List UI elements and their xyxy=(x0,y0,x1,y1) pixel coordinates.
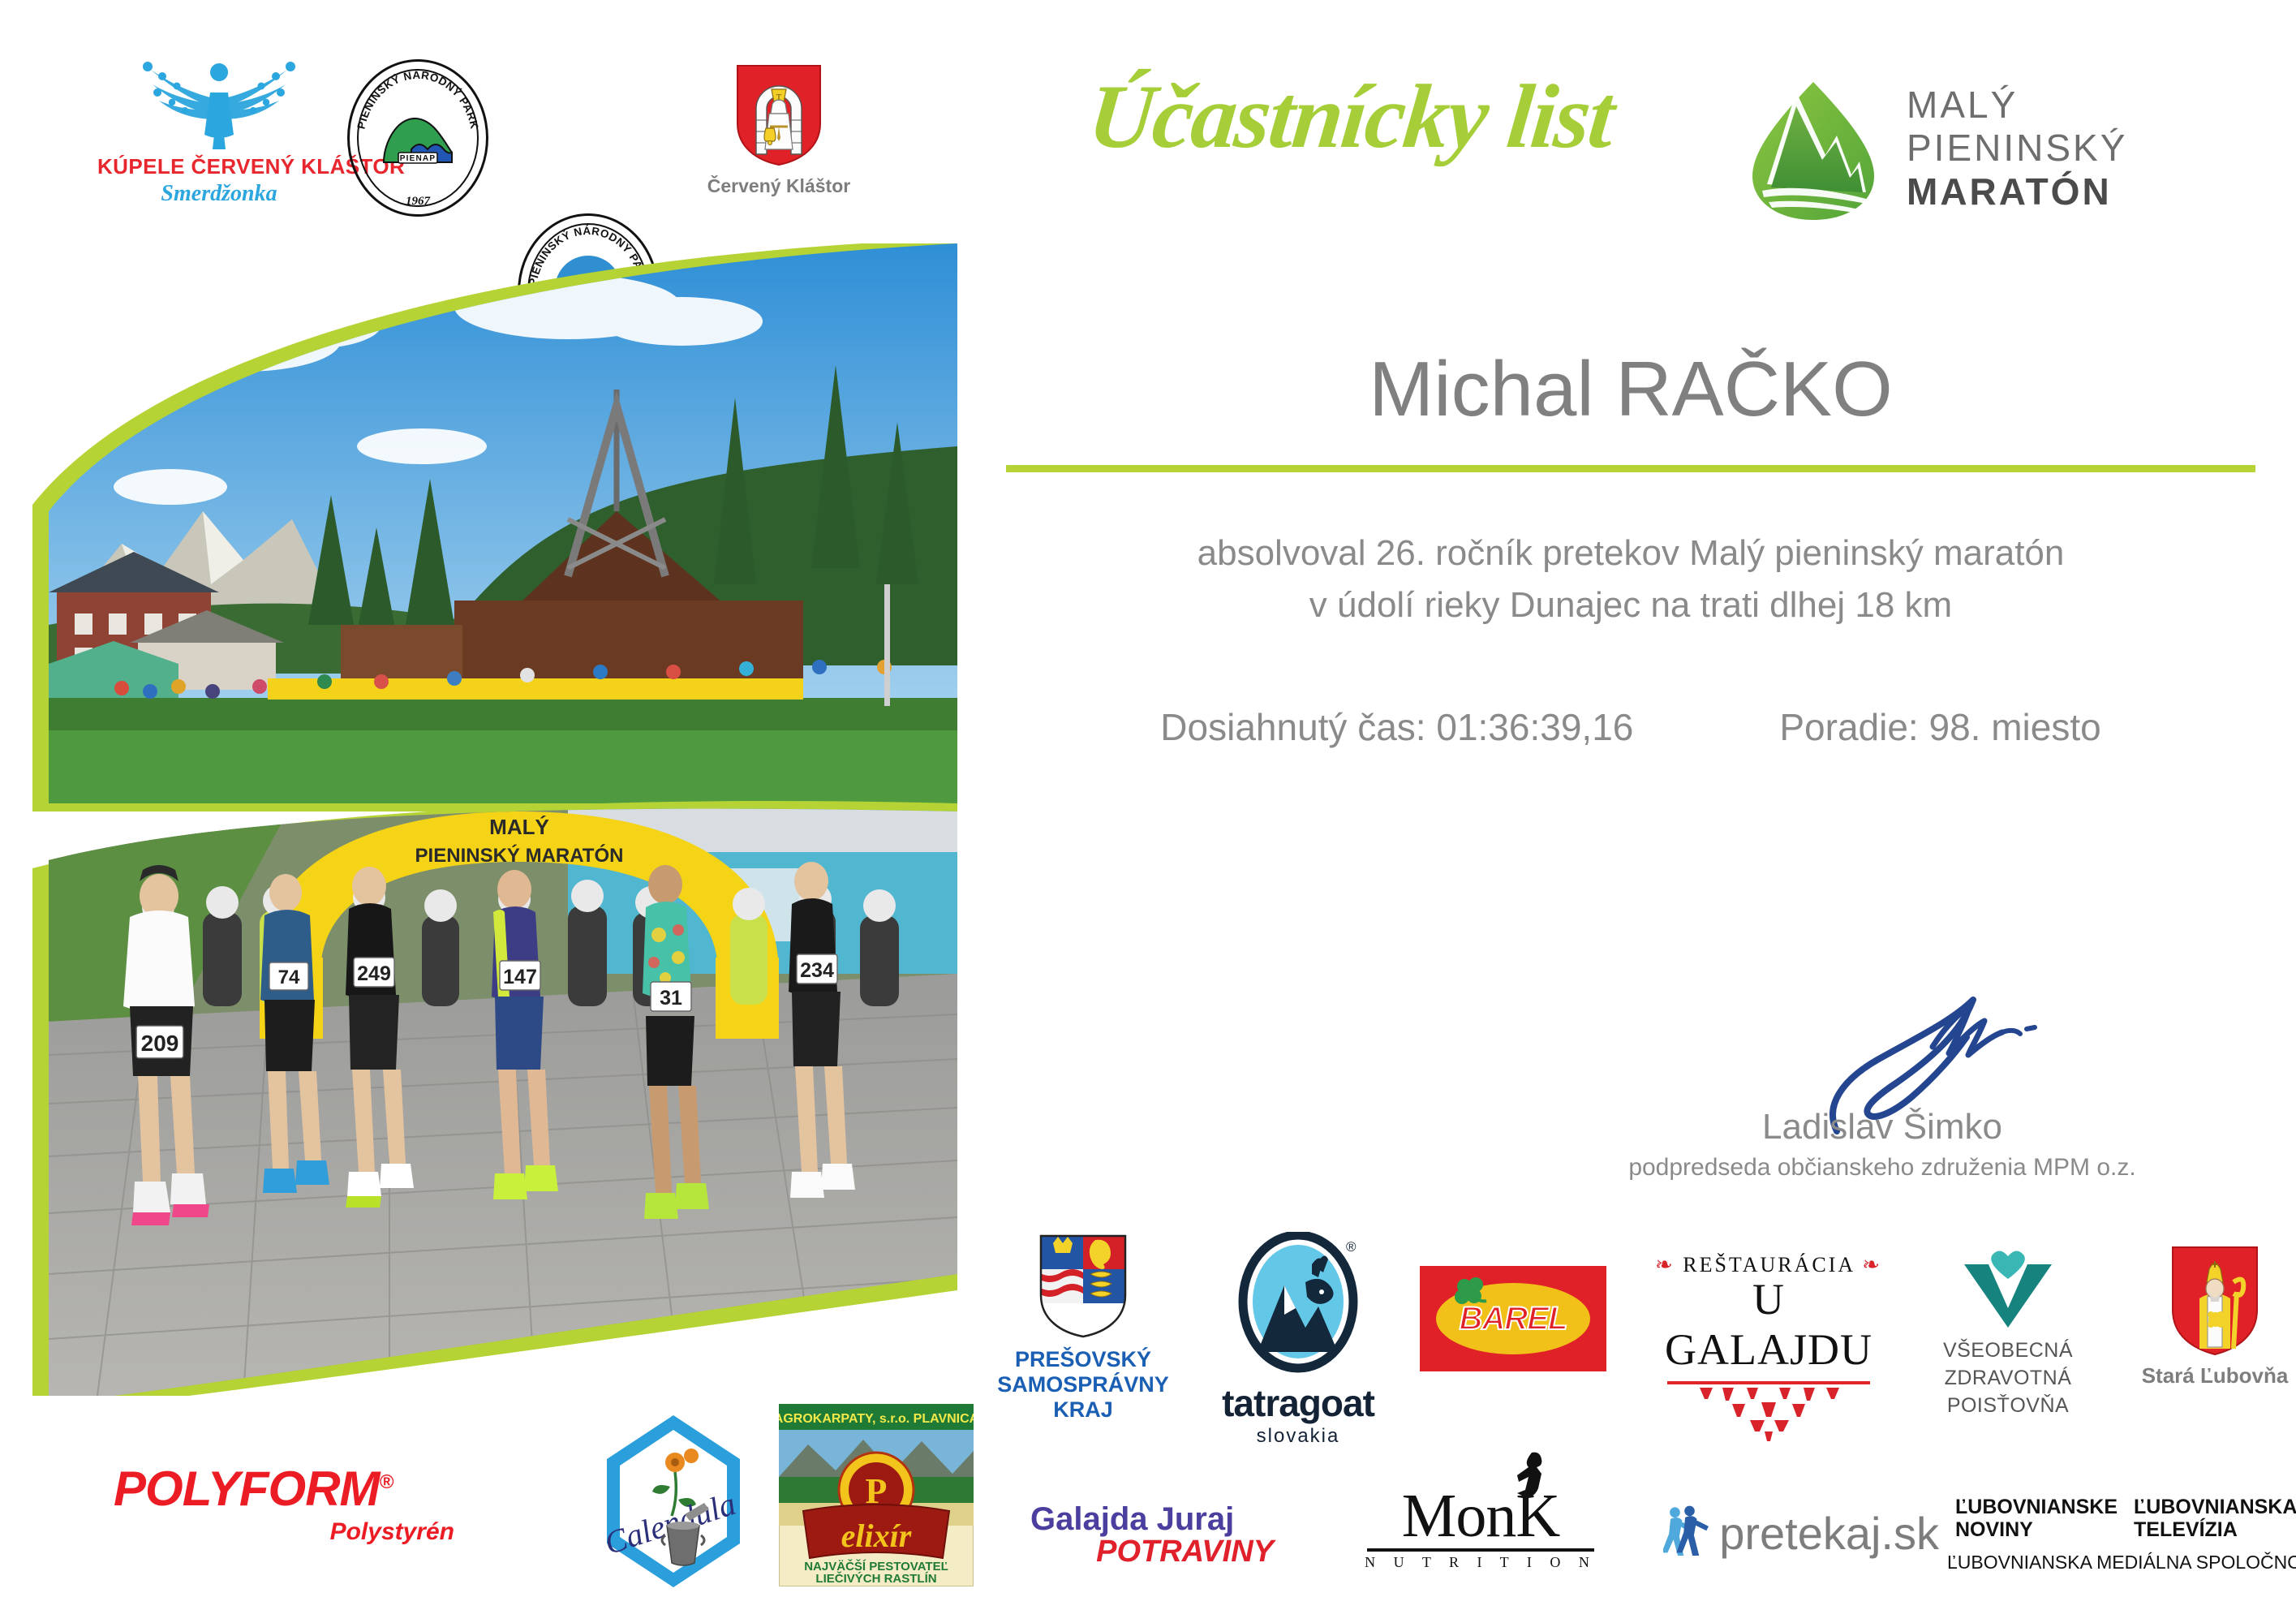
svg-text:MALÝ: MALÝ xyxy=(489,815,549,839)
mpm-wordmark: MALÝ PIENINSKÝ MARATÓN xyxy=(1907,84,2127,213)
sponsor-logo-presovsky-samospravny-kraj: PREŠOVSKÝ SAMOSPRÁVNY KRAJ xyxy=(990,1233,1176,1423)
registered-trademark-icon: ® xyxy=(380,1471,393,1493)
polyform-name: POLYFORM® xyxy=(114,1461,454,1517)
lubovnianska-televizia-name: ĽUBOVNIANSKA TELEVÍZIA xyxy=(2134,1496,2296,1541)
sponsor-logo-polyform: POLYFORM® Polystyrén xyxy=(114,1461,454,1546)
mpm-leaf-mountain-logo-icon xyxy=(1744,77,1882,223)
svg-text:234: 234 xyxy=(800,959,834,982)
monk-subtitle: N U T R I T I O N xyxy=(1347,1554,1615,1571)
galajda-name: Galajda Juraj xyxy=(1030,1501,1274,1538)
sponsor-logo-tatragoat: ® tatragoat slovakia xyxy=(1209,1232,1387,1448)
vszp-name: VŠEOBECNÁ ZDRAVOTNÁ POISŤOVŇA xyxy=(1915,1337,2101,1419)
svg-text:209: 209 xyxy=(141,1031,179,1056)
psk-name: PREŠOVSKÝ SAMOSPRÁVNY KRAJ xyxy=(990,1347,1176,1423)
svg-text:147: 147 xyxy=(503,966,537,988)
clover-icon xyxy=(1451,1275,1491,1315)
photo-montage: MALÝ PIENINSKÝ MARATÓN xyxy=(0,243,957,1396)
kupele-name-line1: KÚPELE ČERVENÝ KLÁŠTOR xyxy=(97,154,341,179)
pienap-year: 1967 xyxy=(406,195,430,209)
sponsor-logo-vszp: VŠEOBECNÁ ZDRAVOTNÁ POISŤOVŇA xyxy=(1915,1250,2101,1419)
sponsor-logo-lubovnianska-medialna-spolocnost: ĽUBOVNIANSKE NOVINY ĽUBOVNIANSKA TELEVÍZ… xyxy=(1947,1495,2288,1573)
partner-logo-cerveny-klastor: T Červený Kláštor xyxy=(698,63,860,197)
sponsor-strip-media: Galajda Juraj POTRAVINY MonK N U T R I T… xyxy=(982,1477,2280,1623)
cerveny-klastor-caption: Červený Kláštor xyxy=(698,175,860,197)
mpm-brand-logo: MALÝ PIENINSKÝ MARATÓN xyxy=(1744,77,2247,223)
achievement-text: absolvoval 26. ročník pretekov Malý pien… xyxy=(998,527,2264,631)
sponsor-strip-left: POLYFORM® Polystyrén Calendula xyxy=(97,1380,957,1582)
vszp-line-3: POISŤOVŇA xyxy=(1915,1393,2101,1420)
sponsor-logo-restauracia-u-galajdu: ❧ REŠTAURÁCIA ❧ U GALAJDU xyxy=(1647,1253,1890,1445)
vszp-heart-chevron-icon xyxy=(1959,1250,2057,1328)
lubovnianske-noviny-name: ĽUBOVNIANSKE NOVINY xyxy=(1955,1496,2118,1541)
monk-silhouette-icon xyxy=(1506,1451,1554,1498)
tatragoat-chamois-mountain-icon: ® xyxy=(1237,1232,1359,1378)
tatragoat-subtitle: slovakia xyxy=(1209,1425,1387,1448)
elixir-name: elixír xyxy=(841,1518,912,1554)
lms-company-name: ĽUBOVNIANSKA MEDIÁLNA SPOLOČNOSŤ, s.r.o. xyxy=(1947,1552,2288,1573)
partner-logo-kupele-cerveny-klastor: KÚPELE ČERVENÝ KLÁŠTOR Smerdžonka xyxy=(97,57,341,207)
vszp-line-1: VŠEOBECNÁ xyxy=(1915,1337,2101,1365)
signature-block: Ladislav Šimko podpredseda občianskeho z… xyxy=(1517,990,2247,1182)
elixir-foot2: LIEČIVÝCH RASTLÍN xyxy=(815,1571,936,1586)
angel-water-wings-icon xyxy=(97,57,341,154)
signer-role: podpredseda občianskeho združenia MPM o.… xyxy=(1517,1154,2247,1182)
certificate-title: Účastnícky list xyxy=(993,71,1709,162)
participant-name: Michal RAČKO xyxy=(998,349,2264,431)
barel-oval: BAREL xyxy=(1436,1283,1590,1354)
name-underline-rule xyxy=(1006,465,2255,472)
mpm-word-pieninsky: PIENINSKÝ xyxy=(1907,127,2127,170)
sponsor-logo-stara-lubovna: Stará Ľubovňa xyxy=(2134,1245,2296,1388)
psk-line-1: PREŠOVSKÝ xyxy=(990,1347,1176,1372)
svg-text:31: 31 xyxy=(660,987,682,1010)
svg-text:249: 249 xyxy=(357,962,391,985)
vszp-line-2: ZDRAVOTNÁ xyxy=(1915,1365,2101,1393)
achievement-line-1: absolvoval 26. ročník pretekov Malý pien… xyxy=(998,527,2264,579)
sponsor-logo-agrokarpaty-elixir: AGROKARPATY, s.r.o. PLAVNICA P elixír NA… xyxy=(779,1404,974,1586)
psk-coat-of-arms-icon xyxy=(1038,1233,1128,1339)
stara-lubovna-coat-of-arms-icon xyxy=(2170,1245,2259,1357)
certificate-body: Michal RAČKO absolvoval 26. ročník prete… xyxy=(998,349,2264,749)
mpm-word-maly: MALÝ xyxy=(1907,84,2127,127)
mpm-word-maraton: MARATÓN xyxy=(1907,170,2127,213)
svg-text:PIENAP: PIENAP xyxy=(400,154,436,163)
partner-logo-strip: KÚPELE ČERVENÝ KLÁŠTOR Smerdžonka PIENIN… xyxy=(81,57,949,243)
tatragoat-name: tatragoat xyxy=(1209,1381,1387,1425)
galajda-subtitle: POTRAVINY xyxy=(1030,1535,1274,1569)
finish-time: Dosiahnutý čas: 01:36:39,16 xyxy=(1160,705,1633,749)
svg-text:®: ® xyxy=(1346,1239,1357,1255)
two-runners-icon xyxy=(1663,1501,1714,1565)
svg-text:74: 74 xyxy=(278,966,300,988)
achievement-line-2: v údolí rieky Dunajec na trati dlhej 18 … xyxy=(998,579,2264,631)
agrokarpaty-top-text: AGROKARPATY, s.r.o. PLAVNICA xyxy=(779,1412,974,1426)
partner-logo-pieninsky-narodny-park: PIENINSKÝ NÁRODNÝ PARK PIENAP 1967 xyxy=(349,61,487,215)
lms-brands-row: ĽUBOVNIANSKE NOVINY ĽUBOVNIANSKA TELEVÍZ… xyxy=(1947,1495,2288,1542)
sponsor-logo-calendula: Calendula xyxy=(600,1412,746,1591)
psk-line-3: KRAJ xyxy=(990,1397,1176,1423)
signer-name: Ladislav Šimko xyxy=(1517,990,2247,1147)
folk-ornament-icon xyxy=(1683,1384,1854,1441)
monk-name: MonK xyxy=(1347,1485,1615,1547)
sponsor-logo-galajda-juraj: Galajda Juraj POTRAVINY xyxy=(1030,1501,1274,1569)
sponsor-logo-barel: BAREL xyxy=(1420,1266,1606,1371)
result-row: Dosiahnutý čas: 01:36:39,16 Poradie: 98.… xyxy=(998,705,2264,749)
sponsor-strip-main: PREŠOVSKÝ SAMOSPRÁVNY KRAJ ® xyxy=(982,1225,2280,1469)
psk-line-2: SAMOSPRÁVNY xyxy=(990,1372,1176,1397)
u-galajdu-name: U GALAJDU xyxy=(1647,1274,1890,1375)
polyform-subtitle: Polystyrén xyxy=(114,1518,454,1546)
pretekaj-name: pretekaj.sk xyxy=(1719,1507,1939,1560)
sponsor-logo-pretekaj-sk: pretekaj.sk xyxy=(1663,1501,1939,1565)
placement: Poradie: 98. miesto xyxy=(1779,705,2100,749)
stara-lubovna-caption: Stará Ľubovňa xyxy=(2134,1363,2296,1388)
cerveny-klastor-coat-of-arms-icon: T xyxy=(735,63,823,167)
svg-text:PIENINSKÝ MARATÓN: PIENINSKÝ MARATÓN xyxy=(415,844,624,867)
kupele-name-line2: Smerdžonka xyxy=(97,181,341,207)
pienap-mountain-water-icon: PIENAP xyxy=(379,114,457,169)
sponsor-logo-monk-nutrition: MonK N U T R I T I O N xyxy=(1347,1485,1615,1571)
